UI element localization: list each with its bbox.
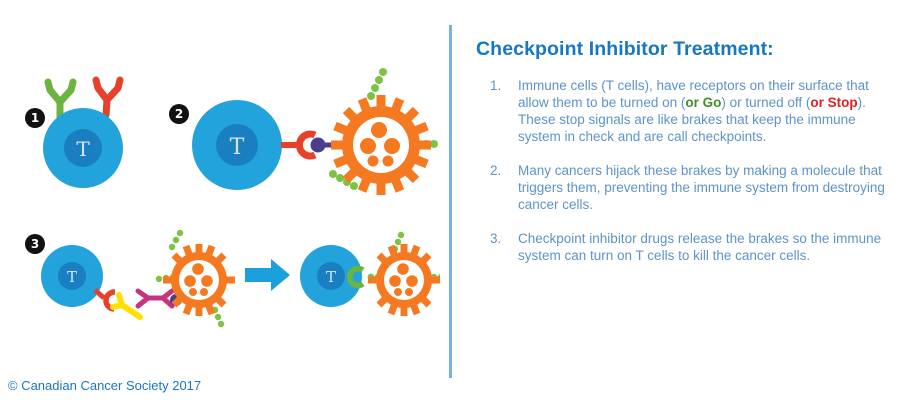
panel-badge-2: 2 <box>169 104 189 124</box>
cancer-cell <box>368 244 440 316</box>
list-item-text: Immune cells (T cells), have receptors o… <box>518 78 869 144</box>
t-cell-label: T <box>76 137 90 161</box>
list-item: 1. Immune cells (T cells), have receptor… <box>476 77 888 145</box>
panel-badge-1: 1 <box>25 108 45 128</box>
or-stop-emphasis: or Stop <box>810 95 857 110</box>
steps-list: 1. Immune cells (T cells), have receptor… <box>476 77 888 264</box>
t-cell-label: T <box>326 268 336 286</box>
slide-root: 1 <box>0 0 900 400</box>
step1-segment-2: ) or turned off ( <box>721 95 810 110</box>
diagram-panel-3: 3 T <box>0 228 440 343</box>
panel-3-graphic: T <box>0 228 440 343</box>
or-go-emphasis: or Go <box>685 95 721 110</box>
list-item-text: Many cancers hijack these brakes by maki… <box>518 163 885 212</box>
red-receptor-icon <box>96 80 120 115</box>
cancer-cell <box>331 95 431 195</box>
list-item-text: Checkpoint inhibitor drugs release the b… <box>518 231 881 263</box>
list-item-number: 2. <box>490 162 512 179</box>
red-receptor-icon <box>281 134 315 156</box>
t-cell-label: T <box>67 268 77 286</box>
illustration-panel: 1 <box>0 0 440 400</box>
page-title: Checkpoint Inhibitor Treatment: <box>476 38 888 61</box>
diagram-panel-2: 2 T <box>165 60 440 200</box>
list-item-number: 3. <box>490 230 512 247</box>
vertical-divider <box>449 25 452 378</box>
list-item-number: 1. <box>490 77 512 94</box>
arrow-right-icon <box>245 259 290 291</box>
panel-badge-3: 3 <box>25 234 45 254</box>
panel-2-graphic: T <box>165 60 440 200</box>
diagram-panel-1: 1 <box>0 60 180 190</box>
text-panel: Checkpoint Inhibitor Treatment: 1. Immun… <box>476 38 888 281</box>
copyright-notice: © Canadian Cancer Society 2017 <box>8 378 201 393</box>
t-cell-label: T <box>230 135 245 160</box>
list-item: 2. Many cancers hijack these brakes by m… <box>476 162 888 213</box>
list-item: 3. Checkpoint inhibitor drugs release th… <box>476 230 888 264</box>
magenta-antibody-icon <box>138 291 172 306</box>
